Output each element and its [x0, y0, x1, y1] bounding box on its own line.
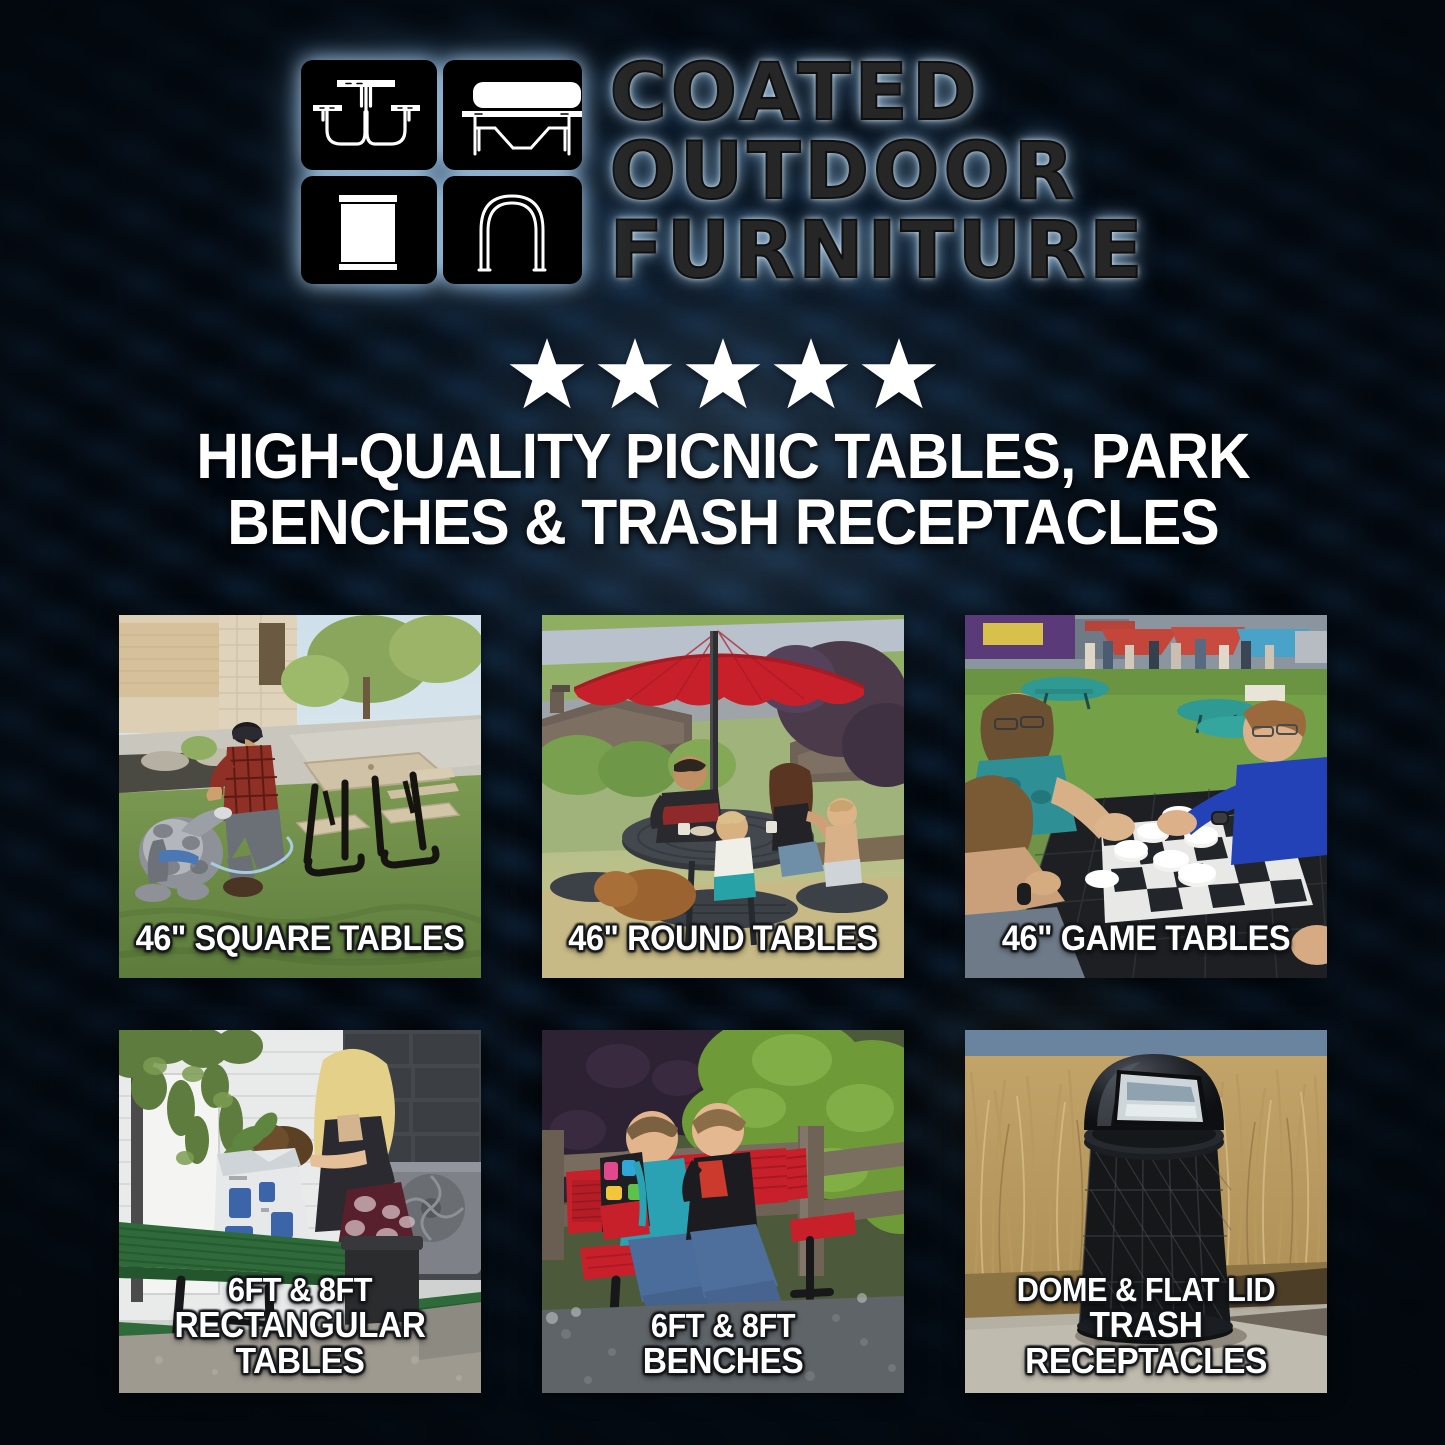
product-card-game-tables[interactable]: 46" GAME TABLES — [965, 615, 1327, 978]
product-card-round-tables[interactable]: 46" ROUND TABLES — [542, 615, 904, 978]
product-photo-round-tables — [542, 615, 904, 978]
brand-wordmark: COATED OUTDOOR FURNITURE — [610, 56, 1147, 289]
product-card-rectangular-tables[interactable]: 6FT & 8FT RECTANGULAR TABLES — [119, 1030, 481, 1393]
poster-canvas: COATED OUTDOOR FURNITURE HIGH-QUALITY PI… — [0, 0, 1445, 1445]
page-title: HIGH-QUALITY PICNIC TABLES, PARK BENCHES… — [93, 424, 1353, 556]
brand-logo: COATED OUTDOOR FURNITURE — [0, 56, 1445, 289]
star-rating — [0, 336, 1445, 412]
product-grid: 46" SQUARE TABLES — [119, 615, 1326, 1393]
product-photo-benches — [542, 1030, 904, 1393]
wordmark-line-1: COATED — [610, 56, 1147, 131]
product-photo-square-tables — [119, 615, 481, 978]
star-icon — [596, 336, 674, 412]
product-photo-rectangular-tables — [119, 1030, 481, 1393]
product-photo-trash-receptacles — [965, 1030, 1327, 1393]
star-icon — [684, 336, 762, 412]
star-icon — [860, 336, 938, 412]
headline-line-1: HIGH-QUALITY PICNIC TABLES, PARK — [143, 424, 1302, 490]
product-card-square-tables[interactable]: 46" SQUARE TABLES — [119, 615, 481, 978]
product-card-trash-receptacles[interactable]: DOME & FLAT LID TRASH RECEPTACLES — [965, 1030, 1327, 1393]
logo-icon-grid — [299, 58, 584, 286]
headline-line-2: BENCHES & TRASH RECEPTACLES — [143, 490, 1302, 556]
wordmark-line-3: FURNITURE — [610, 214, 1147, 289]
wordmark-line-2: OUTDOOR — [610, 135, 1147, 210]
product-card-benches[interactable]: 6FT & 8FT BENCHES — [542, 1030, 904, 1393]
star-icon — [508, 336, 586, 412]
star-icon — [772, 336, 850, 412]
product-photo-game-tables — [965, 615, 1327, 978]
